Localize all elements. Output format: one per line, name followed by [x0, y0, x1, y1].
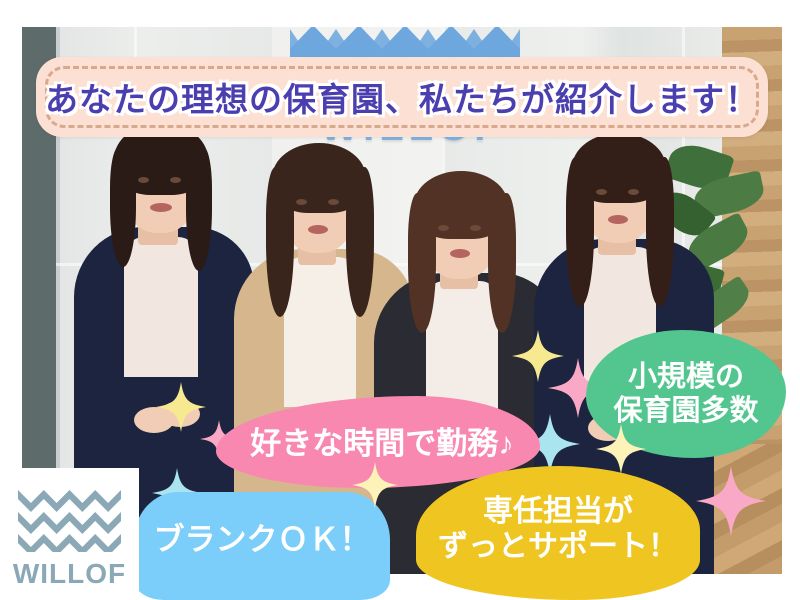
bubble-yellow-line2: ずっとサポート！: [438, 529, 678, 564]
sparkle-icon: [352, 462, 398, 508]
headline-text: あなたの理想の保育園、私たちが紹介します！: [36, 57, 768, 137]
bubble-dedicated-support[interactable]: 専任担当が ずっとサポート！: [416, 466, 700, 600]
willof-logo: WILLOF: [0, 468, 139, 600]
bubble-yellow-line1: 専任担当が: [438, 494, 678, 529]
headline-banner: あなたの理想の保育園、私たちが紹介します！: [36, 57, 768, 137]
bubble-pink-text: 好きな時間で勤務♪: [250, 426, 514, 463]
sparkle-icon: [696, 466, 766, 536]
sparkle-icon: [596, 424, 646, 474]
bubble-green-line1: 小規模の: [613, 360, 758, 394]
willof-wordmark: WILLOF: [0, 558, 139, 590]
bubble-blank-ok[interactable]: ブランクＯＫ！: [134, 492, 390, 600]
sparkle-icon: [156, 382, 206, 432]
bubble-blue-text: ブランクＯＫ！: [154, 522, 371, 559]
banner-ad-root: WILLOF: [0, 0, 800, 600]
zigzag-waves-icon: [18, 488, 121, 552]
